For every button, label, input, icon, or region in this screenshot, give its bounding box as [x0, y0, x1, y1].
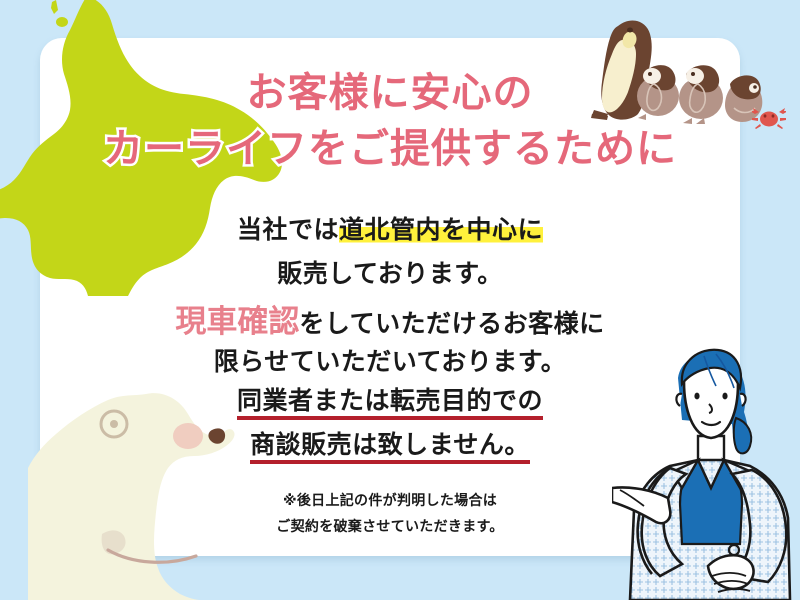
body-line-2: 販売しております。: [40, 254, 740, 290]
body-line-3: 現車確認をしていただけるお客様に: [40, 296, 740, 341]
underlined-text-1: 同業者または転売目的での: [237, 388, 543, 420]
underlined-text-2: 商談販売は致しません。: [250, 432, 530, 464]
body-line-5: 同業者または転売目的での: [40, 386, 740, 420]
headline-line-2: カーライフをご提供するために: [40, 116, 740, 174]
crab-icon: [752, 104, 786, 134]
body-line-3-rest: をしていただけるお客様に: [299, 309, 604, 338]
body-line-1-prefix: 当社では: [237, 215, 339, 244]
headline-line-1: お客様に安心の: [40, 60, 740, 118]
body-line-6: 商談販売は致しません。: [40, 430, 740, 464]
emphasis-genshakakunin: 現車確認: [175, 304, 299, 340]
body-line-4: 限らせていただいております。: [40, 342, 740, 378]
note-line-1: ※後日上記の件が判明した場合は: [40, 490, 740, 510]
banner-canvas: お客様に安心の カーライフをご提供するために 当社では道北管内を中心に 販売して…: [0, 0, 800, 600]
body-line-1: 当社では道北管内を中心に: [40, 210, 740, 246]
text-content: お客様に安心の カーライフをご提供するために 当社では道北管内を中心に 販売して…: [40, 38, 740, 556]
body-line-1-highlight: 道北管内を中心に: [339, 215, 543, 244]
note-line-2: ご契約を破棄させていただきます。: [40, 516, 740, 536]
